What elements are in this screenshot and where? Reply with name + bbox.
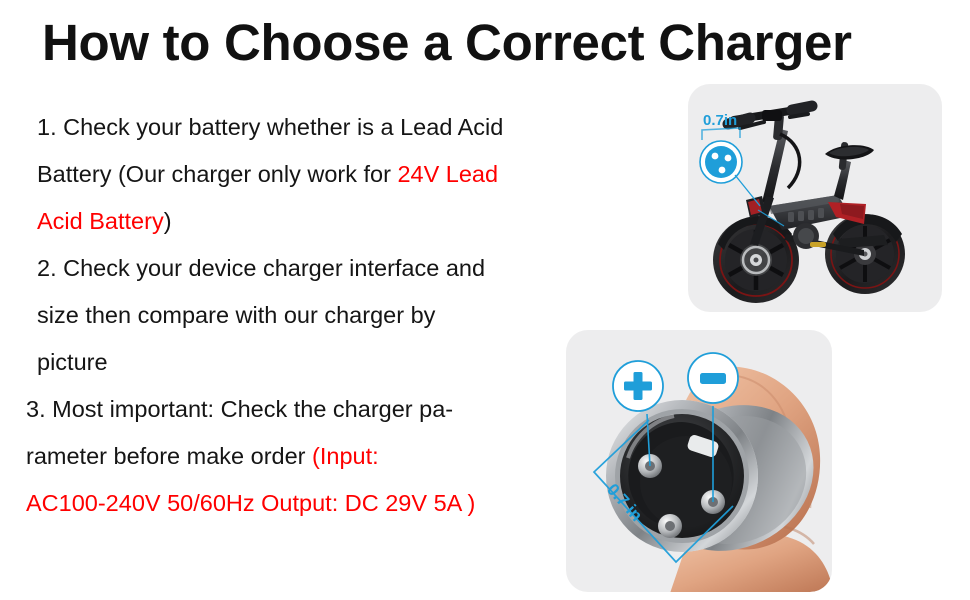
instruction-1-line-3-black: ) [164, 208, 172, 234]
negative-terminal-badge: - [688, 353, 738, 403]
bike-dimension-label: 0.7in [703, 112, 737, 129]
instruction-2-line-1: 2. Check your device charger interface a… [37, 245, 566, 292]
instruction-1-line-2-black: Battery (Our charger only work for [37, 161, 397, 187]
page-title: How to Choose a Correct Charger [42, 14, 852, 72]
instruction-3-line-2: rameter before make order (Input: [26, 433, 566, 480]
connector-face [606, 400, 758, 552]
instruction-3-line-2-red: (Input: [312, 443, 379, 469]
instruction-1-line-2: Battery (Our charger only work for 24V L… [37, 151, 566, 198]
instruction-1-line-3: Acid Battery) [37, 198, 566, 245]
instruction-2-line-3: picture [37, 339, 566, 386]
instruction-item-3: 3. Most important: Check the charger pa-… [26, 386, 566, 527]
instruction-item-1: 1. Check your battery whether is a Lead … [26, 104, 566, 245]
bike-illustration: 0.7in [688, 84, 942, 312]
bike-image-panel: 0.7in [688, 84, 942, 312]
infographic-root: How to Choose a Correct Charger 1. Check… [0, 0, 970, 600]
instruction-2-line-2: size then compare with our charger by [37, 292, 566, 339]
instruction-1-line-3-red: Acid Battery [37, 208, 164, 234]
connector-illustration: + - 0.7 in [566, 330, 832, 592]
instruction-3-line-3: AC100-240V 50/60Hz Output: DC 29V 5A ) [26, 480, 566, 527]
instructions-list: 1. Check your battery whether is a Lead … [26, 104, 566, 527]
instruction-3-line-1: 3. Most important: Check the charger pa- [26, 386, 566, 433]
connector-image-panel: + - 0.7 in [566, 330, 832, 592]
instruction-3-line-2-black: rameter before make order [26, 443, 312, 469]
positive-terminal-badge: + [613, 361, 663, 411]
instruction-1-line-2-red: 24V Lead [397, 161, 498, 187]
instruction-item-2: 2. Check your device charger interface a… [26, 245, 566, 386]
instruction-1-line-1: 1. Check your battery whether is a Lead … [37, 104, 566, 151]
